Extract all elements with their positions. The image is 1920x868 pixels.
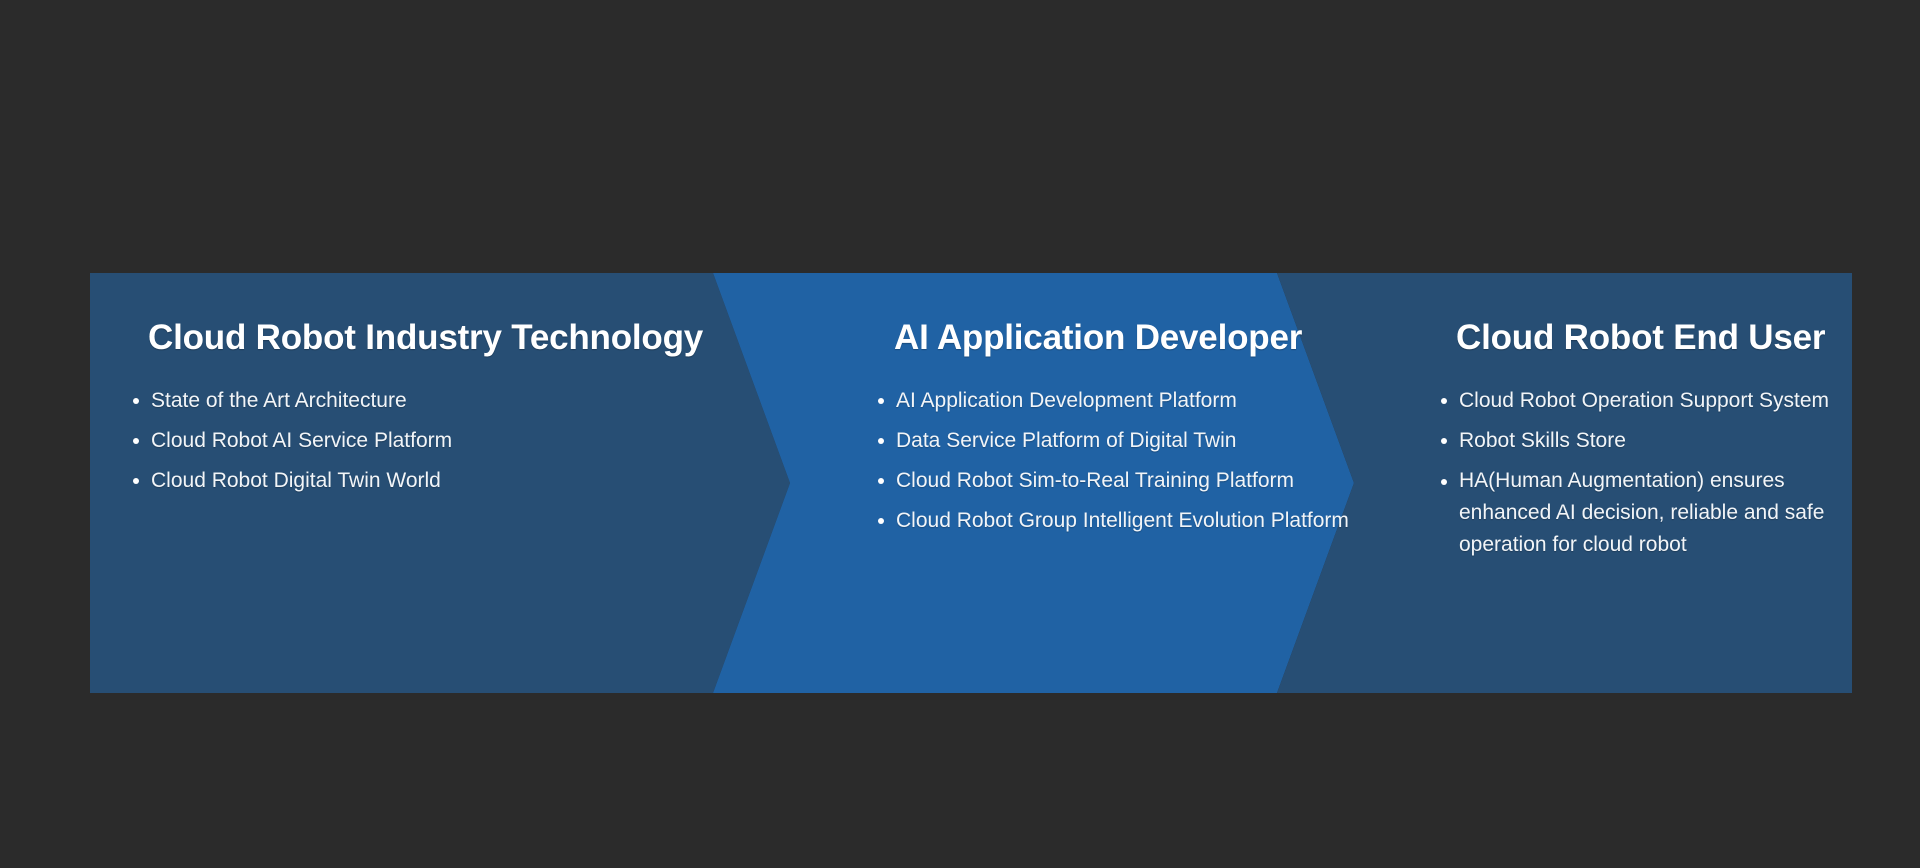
- list-item: Cloud Robot Group Intelligent Evolution …: [875, 501, 1355, 541]
- list-item: Cloud Robot Operation Support System: [1438, 381, 1848, 421]
- list-item: AI Application Development Platform: [875, 381, 1355, 421]
- segment-3-bullet-list: Cloud Robot Operation Support System Rob…: [1438, 381, 1848, 561]
- segment-2-bullet-list: AI Application Development Platform Data…: [875, 381, 1355, 541]
- list-item: Robot Skills Store: [1438, 421, 1848, 461]
- list-item: State of the Art Architecture: [130, 381, 750, 421]
- segment-2-column: AI Application Developer AI Application …: [805, 273, 1365, 693]
- list-item: HA(Human Augmentation) ensures enhanced …: [1438, 461, 1848, 561]
- list-item: Cloud Robot Sim-to-Real Training Platfor…: [875, 461, 1355, 501]
- columns-overlay: Cloud Robot Industry Technology State of…: [90, 273, 1852, 693]
- segment-1-bullet-list: State of the Art Architecture Cloud Robo…: [130, 381, 750, 501]
- list-item: Data Service Platform of Digital Twin: [875, 421, 1355, 461]
- segment-3-column: Cloud Robot End User Cloud Robot Operati…: [1368, 273, 1852, 693]
- list-item: Cloud Robot Digital Twin World: [130, 461, 750, 501]
- chevron-banner: Cloud Robot Industry Technology State of…: [90, 273, 1852, 693]
- segment-3-title: Cloud Robot End User: [1456, 318, 1825, 358]
- segment-1-title: Cloud Robot Industry Technology: [148, 318, 703, 358]
- segment-2-title: AI Application Developer: [894, 318, 1302, 358]
- list-item: Cloud Robot AI Service Platform: [130, 421, 750, 461]
- slide-canvas: Cloud Robot Industry Technology State of…: [0, 0, 1920, 868]
- segment-1-column: Cloud Robot Industry Technology State of…: [90, 273, 790, 693]
